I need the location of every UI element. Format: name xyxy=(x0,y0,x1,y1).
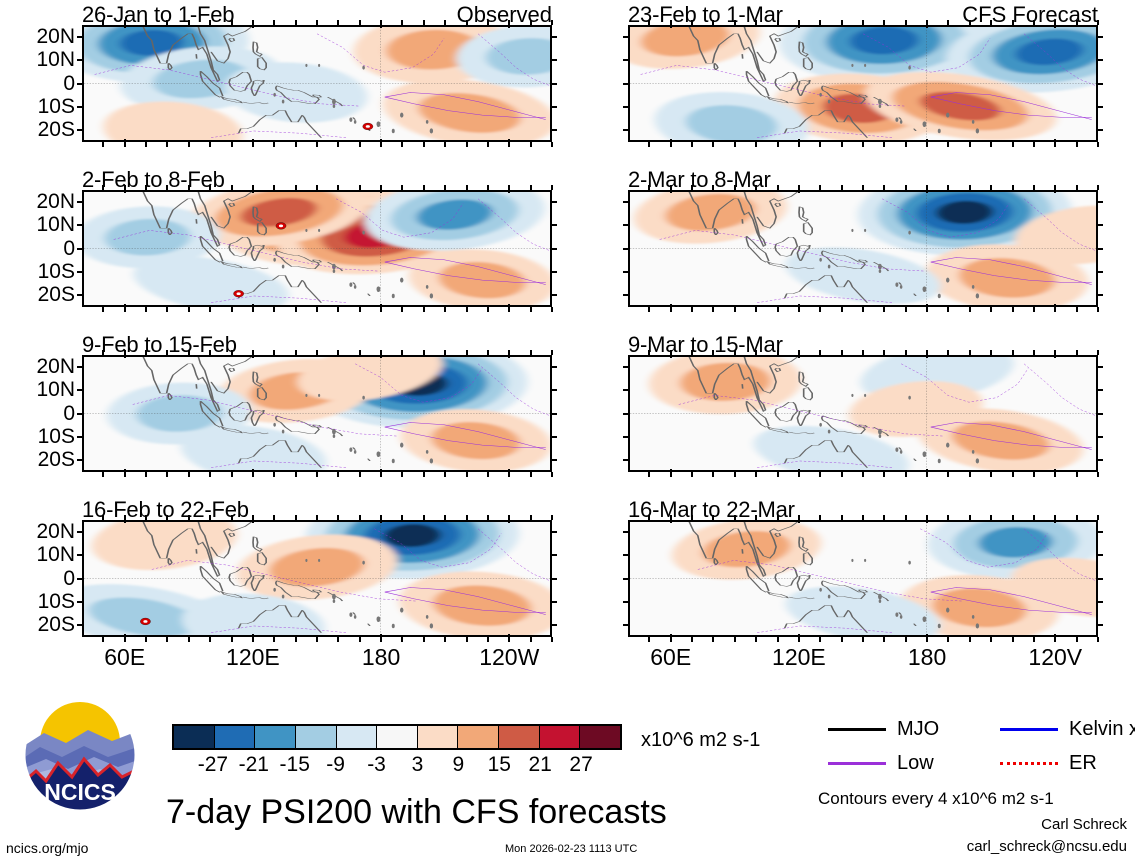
x-axis-tick xyxy=(423,20,425,25)
x-axis-tick-label: 180 xyxy=(362,644,400,671)
x-axis-tick xyxy=(252,139,254,147)
y-axis-tick xyxy=(551,294,557,296)
x-axis-tick xyxy=(862,307,864,312)
x-axis-tick xyxy=(1054,304,1056,312)
x-axis-tick xyxy=(209,637,211,642)
y-axis-tick xyxy=(551,436,557,438)
x-axis-tick xyxy=(487,472,489,477)
plot-area xyxy=(82,520,552,637)
x-axis-tick xyxy=(755,142,757,147)
x-axis-tick xyxy=(316,20,318,25)
colorbar-units-label: x10^6 m2 s-1 xyxy=(641,729,760,752)
y-axis-tick xyxy=(77,59,83,61)
x-axis-tick xyxy=(670,350,672,358)
x-axis-tick xyxy=(166,472,168,477)
x-axis-tick xyxy=(273,472,275,477)
x-axis-tick xyxy=(1097,142,1099,147)
y-axis-tick-label: 10N xyxy=(36,543,75,567)
x-axis-tick xyxy=(252,20,254,28)
x-axis-tick xyxy=(712,472,714,477)
colorbar-cell xyxy=(337,726,378,748)
x-axis-tick xyxy=(209,307,211,312)
x-axis-tick xyxy=(755,20,757,25)
colorbar-tick-label: -21 xyxy=(239,753,269,777)
plot-area xyxy=(82,25,552,142)
y-axis-tick xyxy=(77,224,83,226)
legend-label: Low xyxy=(897,752,934,775)
x-axis-tick xyxy=(380,185,382,193)
y-axis-tick xyxy=(1097,201,1103,203)
x-axis-tick xyxy=(551,185,553,190)
x-axis-tick xyxy=(1033,185,1035,190)
x-axis-tick xyxy=(947,20,949,25)
x-axis-tick xyxy=(188,637,190,642)
x-axis-tick xyxy=(530,472,532,477)
y-axis-tick xyxy=(1097,531,1103,533)
x-axis-tick xyxy=(777,20,779,25)
x-axis-tick-label: 120W xyxy=(479,644,539,671)
x-axis-tick xyxy=(145,307,147,312)
x-axis-tick xyxy=(487,350,489,355)
x-axis-tick xyxy=(124,469,126,477)
colorbar-tick-label: 21 xyxy=(528,753,551,777)
x-axis-tick xyxy=(777,515,779,520)
x-axis-tick xyxy=(1097,515,1099,520)
x-axis-tick xyxy=(188,307,190,312)
x-axis-tick xyxy=(530,515,532,520)
x-axis-tick xyxy=(798,20,800,28)
colorbar-cell xyxy=(215,726,256,748)
x-axis-tick xyxy=(734,637,736,642)
x-axis-tick xyxy=(1054,469,1056,477)
y-axis-tick xyxy=(623,59,629,61)
legend-line-swatch xyxy=(828,762,886,765)
x-axis-tick xyxy=(947,185,949,190)
x-axis-tick xyxy=(691,142,693,147)
x-axis-tick xyxy=(883,307,885,312)
x-axis-tick xyxy=(444,350,446,355)
y-axis-tick xyxy=(551,106,557,108)
x-axis-tick xyxy=(883,515,885,520)
x-axis-tick xyxy=(401,307,403,312)
x-axis-tick xyxy=(252,634,254,642)
x-axis-tick xyxy=(295,20,297,25)
x-axis-tick xyxy=(551,637,553,642)
y-axis-tick-label: 20N xyxy=(36,520,75,544)
x-axis-tick xyxy=(777,142,779,147)
x-axis-tick xyxy=(1076,515,1078,520)
y-axis-tick xyxy=(551,83,557,85)
x-axis-tick xyxy=(209,142,211,147)
x-axis-tick xyxy=(551,20,553,25)
x-axis-tick xyxy=(444,515,446,520)
x-axis-tick xyxy=(145,515,147,520)
x-axis-tick xyxy=(691,472,693,477)
x-axis-tick xyxy=(883,637,885,642)
footer-email[interactable]: carl_schreck@ncsu.edu xyxy=(967,838,1127,855)
x-axis-tick xyxy=(1076,20,1078,25)
colorbar-tick-label: 3 xyxy=(412,753,424,777)
x-axis-tick xyxy=(444,472,446,477)
x-axis-tick xyxy=(1012,350,1014,355)
x-axis-tick xyxy=(841,637,843,642)
x-axis-tick xyxy=(755,472,757,477)
x-axis-tick xyxy=(755,515,757,520)
y-axis-tick xyxy=(623,106,629,108)
y-axis-tick-label: 10S xyxy=(38,425,75,449)
x-axis-tick xyxy=(102,20,104,25)
x-axis-tick xyxy=(969,185,971,190)
x-axis-tick xyxy=(145,142,147,147)
y-axis-tick xyxy=(551,601,557,603)
x-axis-tick xyxy=(819,20,821,25)
x-axis-tick xyxy=(273,185,275,190)
x-axis-tick xyxy=(670,634,672,642)
x-axis-tick xyxy=(712,515,714,520)
x-axis-tick xyxy=(231,20,233,25)
x-axis-tick xyxy=(273,350,275,355)
colorbar-tick-label: -15 xyxy=(280,753,310,777)
x-axis-tick-label: 120E xyxy=(226,644,280,671)
x-axis-tick xyxy=(648,637,650,642)
x-axis-tick xyxy=(1033,350,1035,355)
x-axis-tick xyxy=(990,472,992,477)
x-axis-tick xyxy=(145,20,147,25)
x-axis-tick xyxy=(530,307,532,312)
x-axis-tick xyxy=(466,20,468,25)
x-axis-tick xyxy=(969,472,971,477)
colorbar-tick-label: -27 xyxy=(198,753,228,777)
x-axis-tick xyxy=(712,142,714,147)
x-axis-tick xyxy=(712,20,714,25)
x-axis-tick xyxy=(166,307,168,312)
x-axis-tick xyxy=(273,515,275,520)
x-axis-tick xyxy=(423,142,425,147)
x-axis-tick xyxy=(798,304,800,312)
x-axis-tick xyxy=(401,350,403,355)
x-axis-tick xyxy=(691,307,693,312)
x-axis-tick xyxy=(209,185,211,190)
x-axis-tick xyxy=(755,350,757,355)
y-axis-tick xyxy=(77,106,83,108)
x-axis-tick xyxy=(252,304,254,312)
y-axis-tick xyxy=(551,413,557,415)
x-axis-tick xyxy=(209,20,211,25)
x-axis-tick xyxy=(359,185,361,190)
x-axis-tick xyxy=(947,472,949,477)
tropical-cyclone-marker xyxy=(363,123,373,130)
x-axis-tick xyxy=(380,469,382,477)
legend-item-mjo: MJO xyxy=(828,718,939,741)
x-axis-tick xyxy=(819,515,821,520)
x-axis-tick xyxy=(670,20,672,28)
x-axis-tick xyxy=(252,515,254,523)
y-axis-tick xyxy=(1097,83,1103,85)
x-axis-tick xyxy=(1097,20,1099,25)
x-axis-tick xyxy=(316,515,318,520)
x-axis-tick xyxy=(990,637,992,642)
y-axis-tick xyxy=(623,36,629,38)
x-axis-tick xyxy=(423,515,425,520)
x-axis-tick xyxy=(1054,515,1056,523)
x-axis-tick xyxy=(231,185,233,190)
x-axis-tick xyxy=(819,350,821,355)
x-axis-tick xyxy=(1097,307,1099,312)
x-axis-tick xyxy=(691,185,693,190)
y-axis-tick xyxy=(1097,59,1103,61)
y-axis-tick xyxy=(551,389,557,391)
x-axis-tick xyxy=(359,142,361,147)
y-axis-tick xyxy=(623,459,629,461)
x-axis-tick xyxy=(883,20,885,25)
y-axis-tick-label: 0 xyxy=(63,567,75,591)
x-axis-tick xyxy=(670,515,672,523)
x-axis-tick xyxy=(231,472,233,477)
x-axis-tick xyxy=(551,350,553,355)
y-axis-tick xyxy=(1097,36,1103,38)
y-axis-tick-label: 20S xyxy=(38,448,75,472)
y-axis-tick xyxy=(1097,624,1103,626)
x-axis-tick xyxy=(841,20,843,25)
x-axis-tick xyxy=(209,515,211,520)
x-axis-tick xyxy=(316,307,318,312)
x-axis-tick xyxy=(124,139,126,147)
x-axis-tick xyxy=(777,307,779,312)
x-axis-tick xyxy=(712,350,714,355)
x-axis-tick xyxy=(755,637,757,642)
plot-area xyxy=(628,190,1098,307)
y-axis-tick xyxy=(1097,459,1103,461)
x-axis-tick xyxy=(798,469,800,477)
x-axis-tick xyxy=(1012,472,1014,477)
colorbar-cell xyxy=(174,726,215,748)
x-axis-tick xyxy=(337,472,339,477)
y-axis-tick xyxy=(551,129,557,131)
x-axis-tick xyxy=(1033,515,1035,520)
x-axis-tick xyxy=(648,20,650,25)
x-axis-tick xyxy=(209,472,211,477)
footer-author: Carl Schreck xyxy=(1041,816,1127,833)
x-axis-tick xyxy=(648,515,650,520)
x-axis-tick xyxy=(401,472,403,477)
x-axis-tick xyxy=(295,472,297,477)
x-axis-tick xyxy=(926,20,928,28)
y-axis-tick xyxy=(1097,601,1103,603)
x-axis-tick xyxy=(926,304,928,312)
y-axis-tick xyxy=(77,531,83,533)
x-axis-tick xyxy=(819,307,821,312)
x-axis-tick xyxy=(530,20,532,25)
x-axis-tick xyxy=(466,307,468,312)
x-axis-tick xyxy=(755,307,757,312)
x-axis-tick xyxy=(1054,139,1056,147)
x-axis-tick xyxy=(551,515,553,520)
x-axis-tick xyxy=(487,20,489,25)
x-axis-tick xyxy=(883,142,885,147)
x-axis-tick xyxy=(777,637,779,642)
x-axis-tick xyxy=(648,142,650,147)
x-axis-tick xyxy=(969,142,971,147)
y-axis-tick-label: 20S xyxy=(38,283,75,307)
colorbar-tick-label: 27 xyxy=(569,753,592,777)
colorbar-tick-label: 15 xyxy=(488,753,511,777)
x-axis-tick xyxy=(1076,307,1078,312)
colorbar-cell xyxy=(296,726,337,748)
x-axis-tick xyxy=(359,472,361,477)
colorbar-tick-label: -9 xyxy=(326,753,345,777)
x-axis-tick xyxy=(947,515,949,520)
x-axis-tick xyxy=(648,350,650,355)
x-axis-tick xyxy=(819,637,821,642)
x-axis-tick xyxy=(926,515,928,523)
x-axis-tick xyxy=(466,637,468,642)
x-axis-tick xyxy=(841,515,843,520)
x-axis-tick xyxy=(1054,185,1056,193)
x-axis-tick xyxy=(969,515,971,520)
x-axis-tick xyxy=(423,472,425,477)
footer-website[interactable]: ncics.org/mjo xyxy=(6,840,88,856)
y-axis-tick xyxy=(551,36,557,38)
x-axis-tick xyxy=(734,350,736,355)
x-axis-tick xyxy=(145,472,147,477)
colorbar-cell xyxy=(458,726,499,748)
y-axis-tick xyxy=(77,554,83,556)
y-axis-tick xyxy=(77,271,83,273)
x-axis-tick xyxy=(883,185,885,190)
x-axis-tick xyxy=(905,185,907,190)
x-axis-tick xyxy=(316,142,318,147)
x-axis-tick xyxy=(926,350,928,358)
x-axis-tick xyxy=(670,185,672,193)
x-axis-tick xyxy=(530,185,532,190)
x-axis-tick xyxy=(1054,350,1056,358)
x-axis-tick xyxy=(926,185,928,193)
y-axis-tick xyxy=(551,248,557,250)
legend-item-low: Low xyxy=(828,752,934,775)
x-axis-tick xyxy=(337,515,339,520)
x-axis-tick xyxy=(1076,637,1078,642)
y-axis-tick xyxy=(77,601,83,603)
x-axis-tick xyxy=(145,350,147,355)
x-axis-tick xyxy=(295,142,297,147)
x-axis-tick xyxy=(530,142,532,147)
x-axis-tick xyxy=(295,185,297,190)
y-axis-tick xyxy=(551,224,557,226)
y-axis-tick xyxy=(77,201,83,203)
x-axis-tick xyxy=(444,307,446,312)
x-axis-tick xyxy=(231,515,233,520)
x-axis-tick xyxy=(466,472,468,477)
x-axis-tick xyxy=(530,637,532,642)
y-axis-tick xyxy=(623,248,629,250)
x-axis-tick xyxy=(231,350,233,355)
y-axis-tick xyxy=(623,224,629,226)
y-axis-tick-label: 0 xyxy=(63,402,75,426)
y-axis-tick xyxy=(1097,578,1103,580)
x-axis-tick xyxy=(508,634,510,642)
legend-line-swatch xyxy=(1000,728,1058,731)
x-axis-tick xyxy=(1012,307,1014,312)
x-axis-tick xyxy=(1012,185,1014,190)
x-axis-tick xyxy=(380,139,382,147)
y-axis-tick xyxy=(623,531,629,533)
x-axis-tick xyxy=(166,20,168,25)
y-axis-tick xyxy=(77,578,83,580)
x-axis-tick xyxy=(969,350,971,355)
y-axis-tick-label: 10N xyxy=(36,48,75,72)
x-axis-tick xyxy=(819,185,821,190)
y-axis-tick xyxy=(551,271,557,273)
x-axis-tick xyxy=(883,472,885,477)
x-axis-tick xyxy=(487,307,489,312)
map-panel-forecast-3: 9-Mar to 15-Mar xyxy=(628,355,1098,472)
y-axis-tick xyxy=(623,601,629,603)
y-axis-tick xyxy=(77,366,83,368)
x-axis-tick xyxy=(188,20,190,25)
x-axis-tick xyxy=(508,515,510,523)
y-axis-tick xyxy=(623,271,629,273)
x-axis-tick xyxy=(359,515,361,520)
x-axis-tick xyxy=(1033,142,1035,147)
x-axis-tick xyxy=(862,20,864,25)
x-axis-tick xyxy=(444,142,446,147)
x-axis-tick xyxy=(947,637,949,642)
x-axis-tick xyxy=(444,20,446,25)
x-axis-tick xyxy=(1033,20,1035,25)
y-axis-tick-label: 20S xyxy=(38,118,75,142)
colorbar-cell xyxy=(255,726,296,748)
x-axis-tick xyxy=(1076,142,1078,147)
y-axis-tick xyxy=(77,624,83,626)
colorbar-cell xyxy=(499,726,540,748)
x-axis-tick xyxy=(145,637,147,642)
x-axis-tick xyxy=(209,350,211,355)
y-axis-tick xyxy=(623,578,629,580)
x-axis-tick xyxy=(734,185,736,190)
x-axis-tick xyxy=(508,304,510,312)
x-axis-tick xyxy=(947,350,949,355)
y-axis-tick xyxy=(77,129,83,131)
plot-area xyxy=(82,190,552,307)
y-axis-tick xyxy=(77,294,83,296)
x-axis-tick xyxy=(670,139,672,147)
footer-contour-note: Contours every 4 x10^6 m2 s-1 xyxy=(818,789,1054,809)
x-axis-tick xyxy=(841,350,843,355)
x-axis-tick xyxy=(444,637,446,642)
y-axis-tick-label: 20N xyxy=(36,355,75,379)
x-axis-tick xyxy=(273,142,275,147)
x-axis-tick xyxy=(905,637,907,642)
x-axis-tick-label: 60E xyxy=(104,644,145,671)
x-axis-tick xyxy=(508,469,510,477)
x-axis-tick xyxy=(990,515,992,520)
y-axis-tick xyxy=(551,531,557,533)
legend-label: ER xyxy=(1069,752,1097,775)
y-axis-tick-label: 10S xyxy=(38,260,75,284)
footer-timestamp: Mon 2026-02-23 1113 UTC xyxy=(505,843,637,855)
x-axis-tick xyxy=(1054,634,1056,642)
x-axis-tick xyxy=(777,472,779,477)
map-panel-observed-4: 16-Feb to 22-Feb20N10N010S20S60E120E1801… xyxy=(82,520,552,637)
x-axis-tick xyxy=(380,350,382,358)
y-axis-tick-label: 20S xyxy=(38,613,75,637)
x-axis-tick xyxy=(166,142,168,147)
x-axis-tick xyxy=(359,20,361,25)
x-axis-tick xyxy=(691,515,693,520)
x-axis-tick xyxy=(1012,637,1014,642)
x-axis-tick xyxy=(926,634,928,642)
x-axis-tick xyxy=(145,185,147,190)
